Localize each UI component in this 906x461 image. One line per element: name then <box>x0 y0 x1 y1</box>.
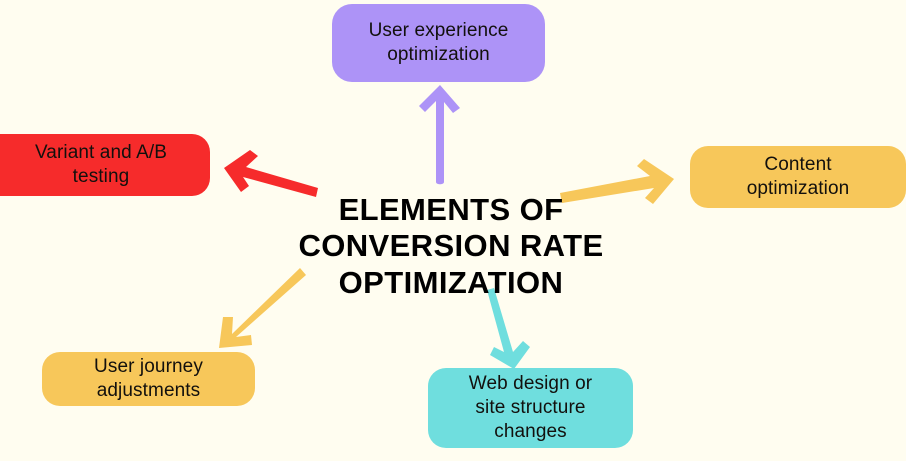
diagram-title: ELEMENTS OF CONVERSION RATE OPTIMIZATION <box>255 192 647 301</box>
node-user-journey-label: User journey adjustments <box>94 355 203 403</box>
node-label-line: Content <box>764 154 831 175</box>
node-label-line: User journey <box>94 356 203 377</box>
node-label-line: Variant and A/B <box>35 142 167 163</box>
arrow-to-variant-testing-icon <box>224 150 318 197</box>
node-web-design[interactable]: Web design or site structure changes <box>428 368 633 448</box>
node-label-line: adjustments <box>97 380 201 401</box>
node-variant-testing-label: Variant and A/B testing <box>35 141 167 189</box>
node-user-experience-label: User experience optimization <box>369 19 509 67</box>
title-line-3: OPTIMIZATION <box>255 265 647 301</box>
node-web-design-label: Web design or site structure changes <box>469 372 592 444</box>
node-label-line: changes <box>494 421 567 442</box>
title-line-1: ELEMENTS OF <box>255 192 647 228</box>
node-label-line: site structure <box>475 397 585 418</box>
node-label-line: optimization <box>387 44 490 65</box>
node-label-line: User experience <box>369 20 509 41</box>
node-content-optimization-label: Content optimization <box>747 153 850 201</box>
node-label-line: Web design or <box>469 373 592 394</box>
node-user-experience[interactable]: User experience optimization <box>332 4 545 82</box>
node-content-optimization[interactable]: Content optimization <box>690 146 906 208</box>
title-line-2: CONVERSION RATE <box>255 228 647 264</box>
node-variant-testing[interactable]: Variant and A/B testing <box>0 134 210 196</box>
node-label-line: optimization <box>747 178 850 199</box>
diagram-canvas: User experience optimization Variant and… <box>0 0 906 461</box>
arrow-to-user-experience-icon <box>419 85 460 184</box>
node-user-journey[interactable]: User journey adjustments <box>42 352 255 406</box>
node-label-line: testing <box>73 166 130 187</box>
